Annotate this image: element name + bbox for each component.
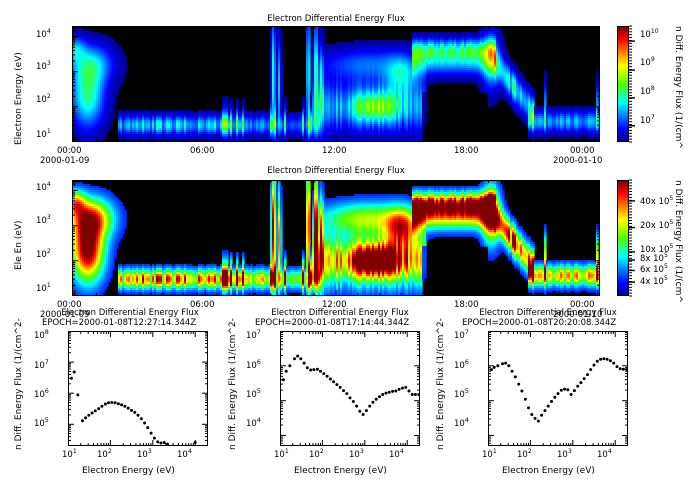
spec1-ytick-1: 101 <box>36 130 51 140</box>
spec5-ylabel: n Diff. Energy Flux (1/(cm^2- <box>436 318 446 450</box>
spec2-cbtick-6: 6x 105 <box>640 265 668 275</box>
spec1-colorbar-label: n Diff. Energy Flux (1/(cm^ <box>673 26 683 149</box>
spec2-colorbar-ticks <box>629 178 639 298</box>
spec3-xlabel: Electron Energy (eV) <box>82 466 175 476</box>
spec3-ytick-7: 107 <box>34 361 49 371</box>
spec5-frame <box>488 331 628 446</box>
spec4-ytick-5: 105 <box>246 390 261 400</box>
spec3-xtick-2: 102 <box>97 450 112 460</box>
spec1-xtick-1: 06:00 <box>190 146 215 156</box>
spec2-ytick-2: 102 <box>36 250 51 260</box>
spec1-title: Electron Differential Energy Flux <box>72 14 600 24</box>
spec1-xtick-0: 00:00 <box>57 146 82 156</box>
spec5-epoch: EPOCH=2000-01-08T20:20:08.344Z <box>462 318 616 328</box>
spec4-xtick-4: 104 <box>389 450 404 460</box>
spec5-ytick-4: 104 <box>454 419 469 429</box>
spec1-xdate-right: 2000-01-10 <box>553 156 602 166</box>
spec4-frame <box>280 331 420 446</box>
spec1-cbtick-8: 108 <box>640 87 655 97</box>
spec3-ytick-8: 108 <box>34 331 49 341</box>
spec1-cbtick-7: 107 <box>640 116 655 126</box>
spec3-title: Electron Differential Energy Flux <box>40 308 220 318</box>
spec4-title: Electron Differential Energy Flux <box>250 308 430 318</box>
spec3-xtick-4: 104 <box>177 450 192 460</box>
spec4-ytick-7: 107 <box>246 331 261 341</box>
spec3-ylabel: n Diff. Energy Flux (1/(cm^2- <box>14 318 24 450</box>
spec4-xtick-3: 103 <box>349 450 364 460</box>
spec2-ytick-3: 103 <box>36 216 51 226</box>
spec2-cbtick-4: 4x 105 <box>640 277 668 287</box>
spec5-xtick-1: 101 <box>482 450 497 460</box>
spec4-ytick-6: 106 <box>246 361 261 371</box>
spec5-xlabel: Electron Energy (eV) <box>502 466 595 476</box>
spec1-cbtick-10: 1010 <box>640 30 659 40</box>
spec1-colorbar-ticks <box>629 24 639 144</box>
spec5-ytick-7: 107 <box>454 331 469 341</box>
spec4-xtick-2: 102 <box>309 450 324 460</box>
spec1-ylabel: Electron Energy (eV) <box>14 52 24 145</box>
spec4-epoch: EPOCH=2000-01-08T17:14:44.344Z <box>255 318 409 328</box>
spec3-epoch: EPOCH=2000-01-08T12:27:14.344Z <box>42 318 196 328</box>
spec5-xtick-4: 104 <box>597 450 612 460</box>
spec1-cbtick-9: 109 <box>640 58 655 68</box>
spec1-ytick-3: 103 <box>36 62 51 72</box>
spec1-xtick-2: 12:00 <box>322 146 347 156</box>
spec2-colorbar-frame <box>617 180 629 296</box>
spec5-ytick-6: 106 <box>454 361 469 371</box>
spec1-frame <box>72 26 600 142</box>
spec1-ytick-4: 104 <box>36 30 51 40</box>
spec2-colorbar-label: n Diff. Energy Flux (1/(cm^ <box>673 180 683 303</box>
spec3-xtick-3: 103 <box>137 450 152 460</box>
spec1-colorbar-frame <box>617 26 629 142</box>
spec3-ytick-6: 106 <box>34 390 49 400</box>
spec3-frame <box>68 331 208 446</box>
spec4-xtick-1: 101 <box>274 450 289 460</box>
spec1-xtick-3: 18:00 <box>454 146 479 156</box>
spec2-cbtick-20: 20x 105 <box>640 221 673 231</box>
spec1-xtick-4: 00:00 <box>570 146 595 156</box>
spec5-xtick-2: 102 <box>517 450 532 460</box>
spec4-ytick-4: 104 <box>246 419 261 429</box>
spec4-ylabel: n Diff. Energy Flux (1/(cm^2- <box>228 318 238 450</box>
spec5-xtick-3: 103 <box>557 450 572 460</box>
spec2-frame <box>72 180 600 296</box>
spec2-cbtick-40: 40x 105 <box>640 197 673 207</box>
spec3-xtick-1: 101 <box>62 450 77 460</box>
spec3-ytick-5: 105 <box>34 419 49 429</box>
spec5-title: Electron Differential Energy Flux <box>458 308 638 318</box>
spec5-ytick-5: 105 <box>454 390 469 400</box>
spec4-xlabel: Electron Energy (eV) <box>294 466 387 476</box>
spec2-ytick-4: 104 <box>36 183 51 193</box>
spec2-ytick-1: 101 <box>36 284 51 294</box>
spec2-title: Electron Differential Energy Flux <box>72 166 600 176</box>
spec2-ylabel: Ele En (eV) <box>14 220 24 270</box>
spec1-ytick-2: 102 <box>36 95 51 105</box>
spec1-xdate-left: 2000-01-09 <box>40 156 89 166</box>
